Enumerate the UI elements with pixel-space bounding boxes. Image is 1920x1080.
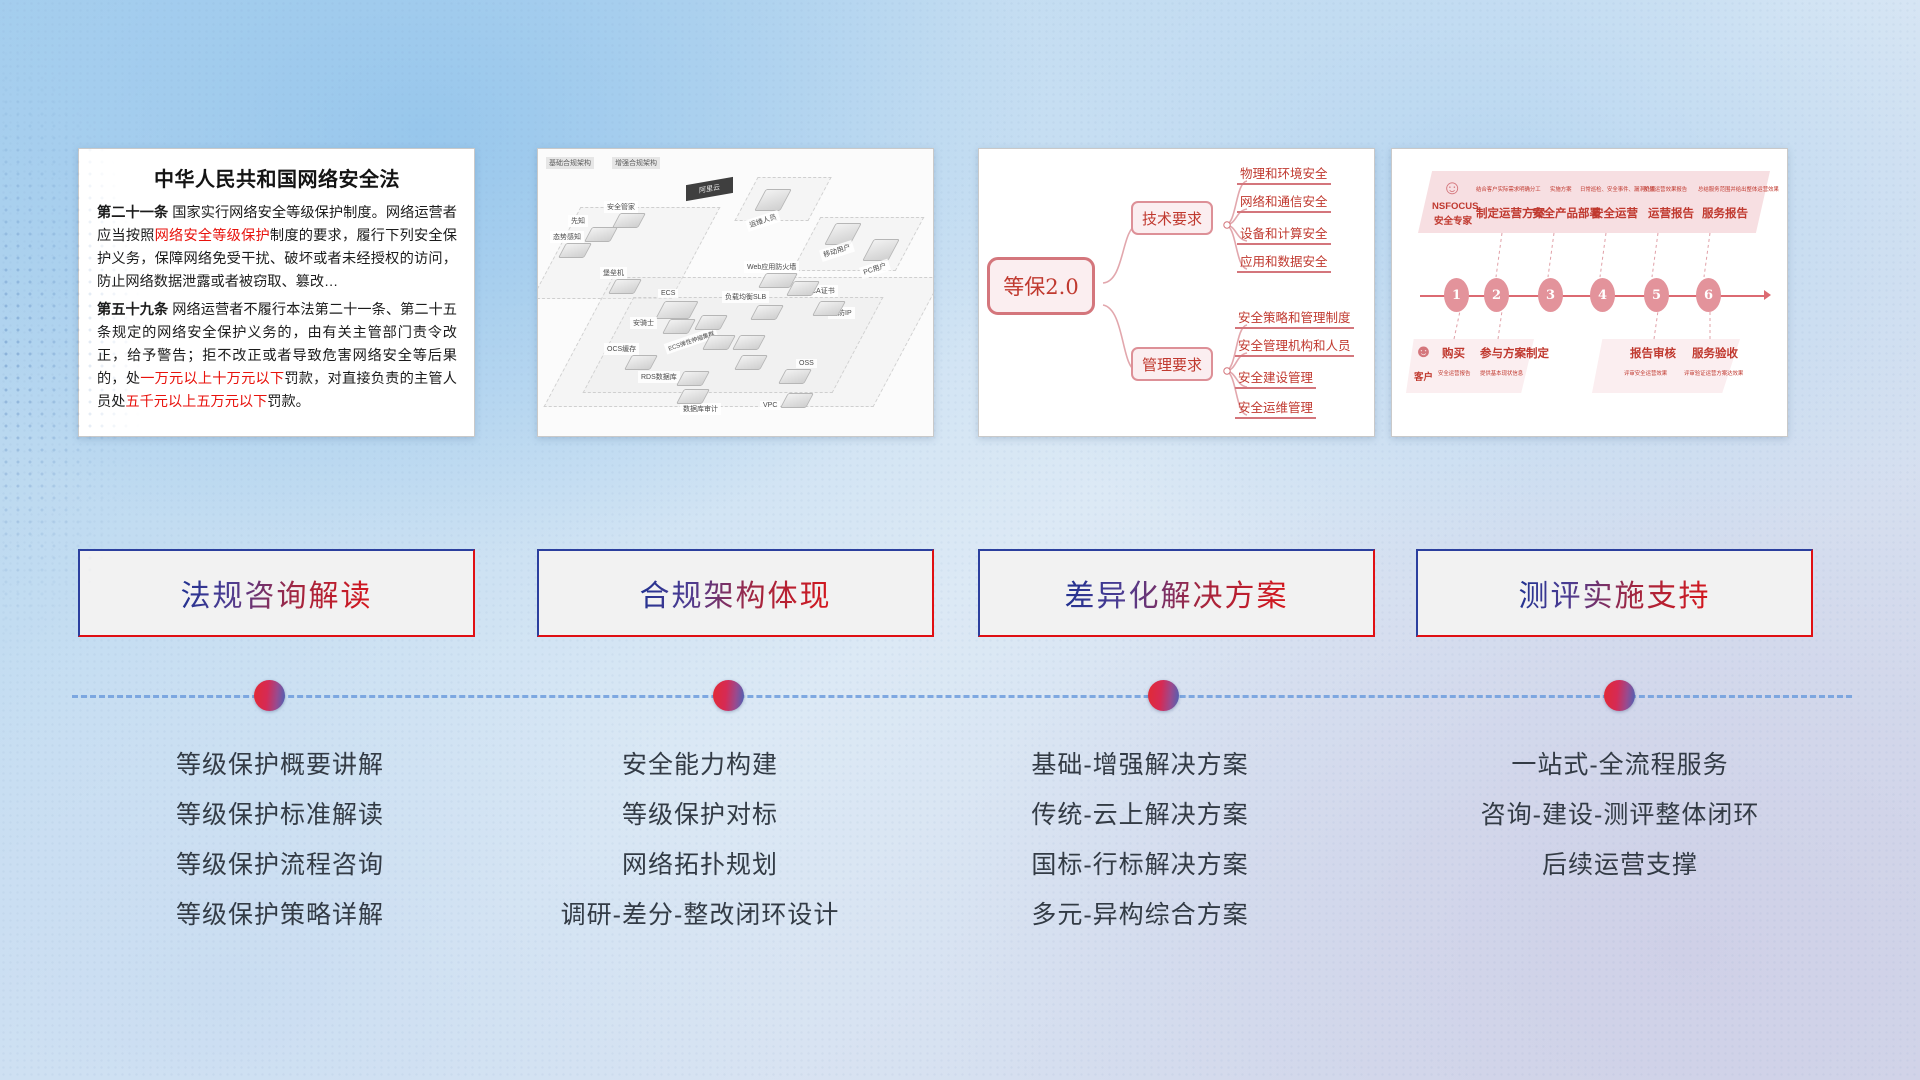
top-title-4: 运营报告 [1648, 205, 1694, 221]
arch-node-slb: 负载均衡SLB [722, 291, 769, 303]
nsfocus-timeline: ☺ NSFOCUS 安全专家 结合客户实际需求明确分工 制定运营方案 实施方案 … [1392, 149, 1787, 436]
expert-name: NSFOCUS [1432, 201, 1478, 212]
preview-card-row: 中华人民共和国网络安全法 第二十一条 国家实行网络安全等级保护制度。网络运营者应… [0, 148, 1920, 448]
card-nsfocus-service-flow[interactable]: ☺ NSFOCUS 安全专家 结合客户实际需求明确分工 制定运营方案 实施方案 … [1391, 148, 1788, 437]
arch-node-ecs: ECS [658, 289, 678, 298]
top-title-5: 服务报告 [1702, 205, 1748, 221]
bottom-title-1: 购买 [1442, 345, 1465, 361]
headline-box-3[interactable]: 差异化解决方案 [978, 549, 1375, 637]
arch-node-oss: OSS [796, 359, 817, 368]
bottom-sub-3: 评审安全运营效果 [1624, 369, 1667, 377]
timeline-track [0, 672, 1920, 732]
mindmap-branch-management: 管理要求 [1131, 347, 1213, 381]
list-item: 基础-增强解决方案 [900, 740, 1380, 790]
article-21-label: 第二十一条 [97, 205, 168, 221]
list-item: 等级保护概要讲解 [40, 740, 520, 790]
card-cybersecurity-law[interactable]: 中华人民共和国网络安全法 第二十一条 国家实行网络安全等级保护制度。网络运营者应… [78, 148, 475, 437]
timeline-step-3[interactable]: 3 [1538, 278, 1563, 312]
headline-label-4: 测评实施支持 [1519, 571, 1711, 615]
timeline-marker-1[interactable] [254, 680, 285, 711]
list-item: 咨询-建设-测评整体闭环 [1370, 790, 1870, 840]
arch-cloud-label: 阿里云 [686, 177, 733, 201]
top-sub-1: 结合客户实际需求明确分工 [1476, 185, 1541, 193]
mindmap-leaf-device: 设备和计算安全 [1237, 223, 1331, 245]
headline-box-4[interactable]: 测评实施支持 [1416, 549, 1813, 637]
article-59-label: 第五十九条 [97, 302, 168, 318]
arch-node-waf: Web应用防火墙 [744, 261, 799, 273]
bottom-sub-1: 安全运营报告 [1438, 369, 1470, 377]
list-item: 网络拓扑规划 [460, 840, 940, 890]
top-title-3: 安全运营 [1592, 205, 1638, 221]
list-item: 后续运营支撑 [1370, 840, 1870, 890]
mindmap-root: 等保2.0 [987, 257, 1095, 315]
arch-tab-enhanced[interactable]: 增强合规架构 [612, 157, 660, 169]
slide-canvas: 中华人民共和国网络安全法 第二十一条 国家实行网络安全等级保护制度。网络运营者应… [0, 0, 1920, 1080]
list-item: 等级保护对标 [460, 790, 940, 840]
detail-column-3: 基础-增强解决方案 传统-云上解决方案 国标-行标解决方案 多元-异构综合方案 [900, 740, 1380, 940]
headline-row: 法规咨询解读 合规架构体现 差异化解决方案 测评实施支持 [0, 549, 1920, 639]
list-item: 调研-差分-整改闭环设计 [460, 890, 940, 940]
list-item: 传统-云上解决方案 [900, 790, 1380, 840]
timeline-marker-2[interactable] [713, 680, 744, 711]
detail-column-2: 安全能力构建 等级保护对标 网络拓扑规划 调研-差分-整改闭环设计 [460, 740, 940, 940]
bottom-title-3: 报告审核 [1630, 345, 1676, 361]
mindmap-leaf-physical: 物理和环境安全 [1237, 163, 1331, 185]
headline-label-1: 法规咨询解读 [181, 571, 373, 615]
mindmap: 等保2.0 技术要求 管理要求 物理和环境安全 网络和通信安全 设备和计算安全 … [979, 149, 1374, 436]
top-sub-5: 总结服务范围并给出整体运营效果 [1698, 185, 1779, 193]
mindmap-leaf-network: 网络和通信安全 [1237, 191, 1331, 213]
bottom-sub-4: 评审验证运营方案达效果 [1684, 369, 1743, 377]
arch-node-db-audit: 数据库审计 [680, 403, 721, 415]
card-compliance-architecture[interactable]: 基础合规架构 增强合规架构 阿里云 安全管家 先知 态势感知 堡垒机 ECS 安… [537, 148, 934, 437]
arch-node-anquanguanjia: 安全管家 [604, 201, 638, 213]
expert-role: 安全专家 [1434, 213, 1472, 227]
law-title: 中华人民共和国网络安全法 [97, 163, 457, 192]
card-mindmap-dengbao[interactable]: 等保2.0 技术要求 管理要求 物理和环境安全 网络和通信安全 设备和计算安全 … [978, 148, 1375, 437]
arch-node-rds: RDS数据库 [638, 371, 680, 383]
arch-node-ocs-cache: OCS缓存 [604, 343, 639, 355]
article-59-text-c: 罚款。 [267, 394, 310, 410]
headline-label-3: 差异化解决方案 [1065, 571, 1289, 615]
headline-box-2[interactable]: 合规架构体现 [537, 549, 934, 637]
top-sub-4: 阶段运营效果报告 [1644, 185, 1687, 193]
mindmap-branch-technical: 技术要求 [1131, 201, 1213, 235]
timeline-dashed-line [72, 695, 1852, 698]
timeline-marker-3[interactable] [1148, 680, 1179, 711]
law-article-59: 第五十九条 网络运营者不履行本法第二十一条、第二十五条规定的网络安全保护义务的，… [97, 299, 457, 414]
headline-box-1[interactable]: 法规咨询解读 [78, 549, 475, 637]
timeline-marker-4[interactable] [1604, 680, 1635, 711]
detail-column-1: 等级保护概要讲解 等级保护标准解读 等级保护流程咨询 等级保护策略详解 [40, 740, 520, 940]
list-item: 一站式-全流程服务 [1370, 740, 1870, 790]
arch-node-baoleiji: 堡垒机 [600, 267, 627, 279]
expert-person-icon: ☺ [1442, 177, 1462, 200]
timeline-step-5[interactable]: 5 [1644, 278, 1669, 312]
arch-node-shishiganzhi: 态势感知 [550, 231, 584, 243]
list-item: 等级保护标准解读 [40, 790, 520, 840]
mindmap-leaf-org: 安全管理机构和人员 [1235, 335, 1354, 357]
mindmap-leaf-policy: 安全策略和管理制度 [1235, 307, 1354, 329]
mindmap-leaf-build: 安全建设管理 [1235, 367, 1316, 389]
detail-column-4: 一站式-全流程服务 咨询-建设-测评整体闭环 后续运营支撑 [1370, 740, 1870, 890]
list-item: 国标-行标解决方案 [900, 840, 1380, 890]
article-21-highlight: 网络安全等级保护 [155, 228, 270, 244]
timeline-step-2[interactable]: 2 [1484, 278, 1509, 312]
arch-node-vpc: VPC [760, 401, 780, 410]
timeline-step-4[interactable]: 4 [1590, 278, 1615, 312]
law-document: 中华人民共和国网络安全法 第二十一条 国家实行网络安全等级保护制度。网络运营者应… [79, 149, 474, 429]
detail-column-row: 等级保护概要讲解 等级保护标准解读 等级保护流程咨询 等级保护策略详解 安全能力… [0, 740, 1920, 990]
customer-person-icon: ☻ [1414, 341, 1433, 362]
mindmap-leaf-application: 应用和数据安全 [1237, 251, 1331, 273]
article-59-highlight-a: 一万元以上十万元以下 [140, 371, 284, 387]
list-item: 多元-异构综合方案 [900, 890, 1380, 940]
architecture-diagram: 基础合规架构 增强合规架构 阿里云 安全管家 先知 态势感知 堡垒机 ECS 安… [538, 149, 933, 436]
list-item: 安全能力构建 [460, 740, 940, 790]
law-article-21: 第二十一条 国家实行网络安全等级保护制度。网络运营者应当按照网络安全等级保护制度… [97, 202, 457, 294]
arch-node-xianzhi: 先知 [568, 215, 588, 227]
bottom-title-4: 服务验收 [1692, 345, 1738, 361]
article-59-highlight-b: 五千元以上五万元以下 [125, 394, 267, 410]
timeline-step-6[interactable]: 6 [1696, 278, 1721, 312]
headline-label-2: 合规架构体现 [640, 571, 832, 615]
customer-role: 客户 [1414, 369, 1433, 383]
top-title-2: 安全产品部署 [1532, 205, 1601, 221]
bottom-sub-2: 提供基本现状信息 [1480, 369, 1523, 377]
list-item: 等级保护策略详解 [40, 890, 520, 940]
top-sub-2: 实施方案 [1550, 185, 1572, 193]
mindmap-leaf-ops: 安全运维管理 [1235, 397, 1316, 419]
arch-tab-basic[interactable]: 基础合规架构 [546, 157, 594, 169]
arch-node-anqishi: 安骑士 [630, 317, 657, 329]
timeline-step-1[interactable]: 1 [1444, 278, 1469, 312]
nsfocus-axis-arrow-icon [1764, 290, 1771, 300]
bottom-title-2: 参与方案制定 [1480, 345, 1549, 361]
list-item: 等级保护流程咨询 [40, 840, 520, 890]
